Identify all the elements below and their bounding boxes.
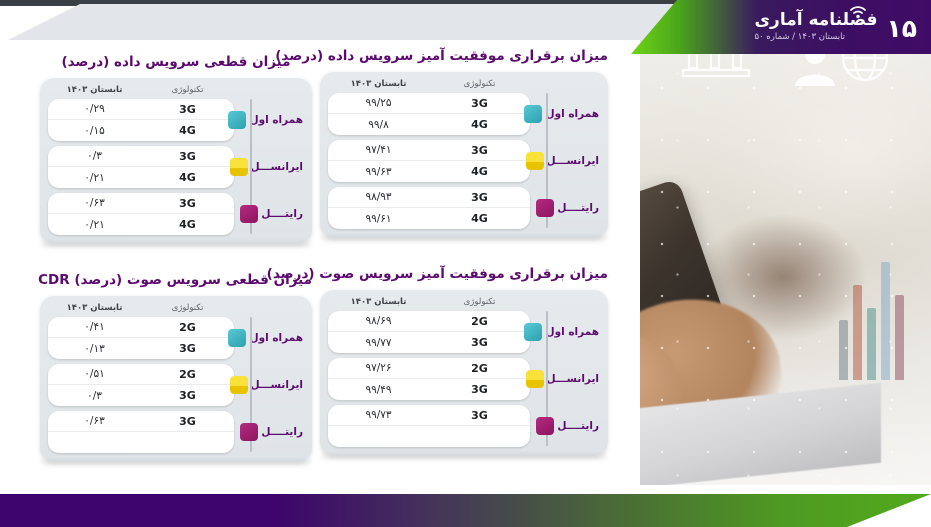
value-cell: ۰/۶۳ xyxy=(48,415,141,427)
top-grey-panel xyxy=(0,4,700,44)
column-header-period: تابستان ۱۴۰۳ xyxy=(328,297,429,307)
operator-label-cell: ایرانســـل xyxy=(530,152,600,170)
operator-label-cell: همراه اول xyxy=(530,105,600,123)
value-cell: ۰/۱۳ xyxy=(48,343,141,355)
rows-box: 3G ۹۷/۴۱ 4G ۹۹/۶۳ xyxy=(328,140,530,182)
technology-cell: 3G xyxy=(429,97,530,110)
operator-group: همراه اول 2G ۹۸/۶۹ 3G ۹۹/۷۷ xyxy=(328,311,600,353)
rows-box: 3G ۰/۲۹ 4G ۰/۱۵ xyxy=(48,99,234,141)
cards-container: میزان برقراری موفقیت آمیز سرویس داده (در… xyxy=(8,48,608,477)
rows-box: 3G ۰/۶۳ xyxy=(48,411,234,453)
technology-cell: 2G xyxy=(429,362,530,375)
operator-name: همراه اول xyxy=(249,332,303,344)
card-title: میزان برقراری موفقیت آمیز سرویس صوت (درص… xyxy=(320,266,608,282)
column-header-technology: تکنولوژی xyxy=(429,79,530,89)
bottom-gap xyxy=(0,485,931,494)
technology-cell: 2G xyxy=(429,315,530,328)
table-row: 3G ۹۸/۹۳ xyxy=(328,187,530,208)
column-header-technology: تکنولوژی xyxy=(141,303,234,313)
table-row: 3G ۰/۶۳ xyxy=(48,193,234,214)
irancell-logo xyxy=(526,152,544,170)
value-cell: ۹۹/۴۹ xyxy=(328,384,429,396)
value-cell: ۰/۱۵ xyxy=(48,125,141,137)
card-title: میزان برقراری موفقیت آمیز سرویس داده (در… xyxy=(320,48,608,64)
operator-group: ایرانســـل 2G ۹۷/۲۶ 3G ۹۹/۴۹ xyxy=(328,358,600,400)
infographic-page: ۱۵ فصلنامه آماری تابستان ۱۴۰۳ / شماره ۵۰… xyxy=(0,0,931,527)
technology-cell: 4G xyxy=(141,124,234,137)
operator-group: ایرانســـل 3G ۰/۳ 4G ۰/۲۱ xyxy=(48,146,304,188)
rightel-logo xyxy=(240,423,258,441)
rows-box: 2G ۹۸/۶۹ 3G ۹۹/۷۷ xyxy=(328,311,530,353)
rows-box: 3G ۹۹/۲۵ 4G ۹۹/۸ xyxy=(328,93,530,135)
card-body: تکنولوژی تابستان ۱۴۰۳ همراه اول 2G ۹۸/۶۹ xyxy=(320,289,608,456)
table-row: 3G ۰/۳ xyxy=(48,146,234,167)
table-row: 3G ۹۹/۴۹ xyxy=(328,379,530,400)
issue-number: ۱۵ xyxy=(886,16,917,41)
value-cell: ۰/۲۹ xyxy=(48,103,141,115)
operator-name: همراه اول xyxy=(545,326,599,338)
operator-label-cell: همراه اول xyxy=(530,323,600,341)
operator-group: ایرانســـل 3G ۹۷/۴۱ 4G ۹۹/۶۳ xyxy=(328,140,600,182)
operator-group: رایتــــل 3G ۰/۶۳ 4G ۰/۲۱ xyxy=(48,193,304,235)
technology-cell: 3G xyxy=(429,144,530,157)
value-cell: ۰/۳ xyxy=(48,390,141,402)
table-row-empty xyxy=(48,432,234,453)
table-row: 2G ۰/۵۱ xyxy=(48,364,234,385)
value-cell: ۹۹/۸ xyxy=(328,119,429,131)
value-cell: ۹۸/۶۹ xyxy=(328,315,429,327)
table-row: 4G ۰/۱۵ xyxy=(48,120,234,141)
value-cell: ۹۸/۹۳ xyxy=(328,191,429,203)
card-title: میزان قطعی سرویس صوت (درصد) CDR xyxy=(40,272,312,288)
table-row: 2G ۹۸/۶۹ xyxy=(328,311,530,332)
operator-label-cell: رایتــــل xyxy=(234,423,304,441)
table-row: 4G ۹۹/۸ xyxy=(328,114,530,135)
value-cell: ۹۷/۴۱ xyxy=(328,144,429,156)
card-voice-outage: میزان قطعی سرویس صوت (درصد) CDR تکنولوژی… xyxy=(40,272,312,462)
operator-label-cell: همراه اول xyxy=(234,111,304,129)
operator-group: ایرانســـل 2G ۰/۵۱ 3G ۰/۳ xyxy=(48,364,304,406)
table-row: 2G ۹۷/۲۶ xyxy=(328,358,530,379)
table-row: 3G ۰/۲۹ xyxy=(48,99,234,120)
operator-group: همراه اول 3G ۹۹/۲۵ 4G ۹۹/۸ xyxy=(328,93,600,135)
table-row: 3G ۹۹/۷۳ xyxy=(328,405,530,426)
irancell-logo xyxy=(526,370,544,388)
table-row: 3G ۹۹/۲۵ xyxy=(328,93,530,114)
operator-label-cell: ایرانســـل xyxy=(530,370,600,388)
footer-bar xyxy=(0,494,931,527)
column-headers: تکنولوژی تابستان ۱۴۰۳ xyxy=(48,84,304,99)
irancell-logo xyxy=(230,376,248,394)
mci-logo xyxy=(228,329,246,347)
operator-name: رایتــــل xyxy=(557,420,599,432)
mci-logo xyxy=(524,105,542,123)
technology-cell: 4G xyxy=(429,165,530,178)
operator-label-cell: رایتــــل xyxy=(530,417,600,435)
operator-name: همراه اول xyxy=(249,114,303,126)
table-row: 3G ۹۷/۴۱ xyxy=(328,140,530,161)
operator-name: رایتــــل xyxy=(557,202,599,214)
mci-logo xyxy=(524,323,542,341)
value-cell: ۹۹/۷۷ xyxy=(328,337,429,349)
column-header-technology: تکنولوژی xyxy=(141,85,234,95)
magazine-subtitle: تابستان ۱۴۰۳ / شماره ۵۰ xyxy=(754,32,845,43)
column-header-technology: تکنولوژی xyxy=(429,297,530,307)
table-row: 4G ۹۹/۶۳ xyxy=(328,161,530,182)
technology-cell: 4G xyxy=(429,118,530,131)
column-header-period: تابستان ۱۴۰۳ xyxy=(48,85,141,95)
technology-cell: 3G xyxy=(141,197,234,210)
rows-box: 3G ۰/۶۳ 4G ۰/۲۱ xyxy=(48,193,234,235)
value-cell: ۹۹/۶۱ xyxy=(328,213,429,225)
technology-cell: 3G xyxy=(141,389,234,402)
column-headers: تکنولوژی تابستان ۱۴۰۳ xyxy=(328,296,600,311)
table-row: 4G ۰/۲۱ xyxy=(48,167,234,188)
table-row: 3G ۹۹/۷۷ xyxy=(328,332,530,353)
technology-cell: 3G xyxy=(429,383,530,396)
mci-logo xyxy=(228,111,246,129)
operator-group: رایتــــل 3G ۰/۶۳ xyxy=(48,411,304,453)
value-cell: ۰/۵۱ xyxy=(48,368,141,380)
operator-name: ایرانســـل xyxy=(547,373,599,385)
column-header-period: تابستان ۱۴۰۳ xyxy=(328,79,429,89)
rows-box: 2G ۰/۵۱ 3G ۰/۳ xyxy=(48,364,234,406)
header-banner-content: ۱۵ فصلنامه آماری تابستان ۱۴۰۳ / شماره ۵۰ xyxy=(631,0,931,54)
table-row: 2G ۰/۴۱ xyxy=(48,317,234,338)
value-cell: ۹۷/۲۶ xyxy=(328,362,429,374)
operator-label-cell: رایتــــل xyxy=(530,199,600,217)
operator-name: ایرانســـل xyxy=(251,379,303,391)
technology-cell: 4G xyxy=(429,212,530,225)
card-title: میزان قطعی سرویس داده (درصد) xyxy=(40,54,312,70)
card-body: تکنولوژی تابستان ۱۴۰۳ همراه اول 3G ۹۹/۲۵ xyxy=(320,71,608,238)
technology-cell: 3G xyxy=(141,103,234,116)
technology-cell: 3G xyxy=(429,409,530,422)
operator-label-cell: ایرانســـل xyxy=(234,376,304,394)
technology-cell: 3G xyxy=(429,191,530,204)
operator-group: همراه اول 2G ۰/۴۱ 3G ۰/۱۳ xyxy=(48,317,304,359)
table-row: 3G ۰/۳ xyxy=(48,385,234,406)
rows-box: 2G ۹۷/۲۶ 3G ۹۹/۴۹ xyxy=(328,358,530,400)
card-body: تکنولوژی تابستان ۱۴۰۳ همراه اول 2G ۰/۴۱ xyxy=(40,295,312,462)
technology-cell: 2G xyxy=(141,321,234,334)
operator-name: رایتــــل xyxy=(261,208,303,220)
table-row-empty xyxy=(328,426,530,447)
column-header-period: تابستان ۱۴۰۳ xyxy=(48,303,141,313)
rightel-logo xyxy=(536,199,554,217)
card-voice-success: میزان برقراری موفقیت آمیز سرویس صوت (درص… xyxy=(320,266,608,456)
operator-name: رایتــــل xyxy=(261,426,303,438)
irancell-logo xyxy=(230,158,248,176)
rows-box: 3G ۹۸/۹۳ 4G ۹۹/۶۱ xyxy=(328,187,530,229)
technology-cell: 4G xyxy=(141,171,234,184)
table-row: 4G ۹۹/۶۱ xyxy=(328,208,530,229)
rows-box: 3G ۹۹/۷۳ xyxy=(328,405,530,447)
technology-cell: 3G xyxy=(141,150,234,163)
operator-group: رایتــــل 3G ۹۸/۹۳ 4G ۹۹/۶۱ xyxy=(328,187,600,229)
value-cell: ۹۹/۶۳ xyxy=(328,166,429,178)
operator-name: همراه اول xyxy=(545,108,599,120)
technology-cell: 3G xyxy=(141,342,234,355)
operator-label-cell: همراه اول xyxy=(234,329,304,347)
rightel-logo xyxy=(240,205,258,223)
table-row: 3G ۰/۱۳ xyxy=(48,338,234,359)
card-data-success: میزان برقراری موفقیت آمیز سرویس داده (در… xyxy=(320,48,608,238)
value-cell: ۰/۶۳ xyxy=(48,197,141,209)
technology-cell: 4G xyxy=(141,218,234,231)
operator-group: رایتــــل 3G ۹۹/۷۳ xyxy=(328,405,600,447)
technology-cell: 3G xyxy=(429,336,530,349)
value-cell: ۹۹/۷۳ xyxy=(328,409,429,421)
rows-box: 2G ۰/۴۱ 3G ۰/۱۳ xyxy=(48,317,234,359)
card-body: تکنولوژی تابستان ۱۴۰۳ همراه اول 3G ۰/۲۹ xyxy=(40,77,312,244)
card-data-outage: میزان قطعی سرویس داده (درصد) تکنولوژی تا… xyxy=(40,54,312,244)
column-headers: تکنولوژی تابستان ۱۴۰۳ xyxy=(48,302,304,317)
value-cell: ۹۹/۲۵ xyxy=(328,97,429,109)
rightel-logo xyxy=(536,417,554,435)
rows-box: 3G ۰/۳ 4G ۰/۲۱ xyxy=(48,146,234,188)
table-row: 3G ۰/۶۳ xyxy=(48,411,234,432)
operator-name: ایرانســـل xyxy=(251,161,303,173)
value-cell: ۰/۲۱ xyxy=(48,172,141,184)
table-row: 4G ۰/۲۱ xyxy=(48,214,234,235)
wifi-icon xyxy=(849,5,867,19)
value-cell: ۰/۴۱ xyxy=(48,321,141,333)
technology-cell: 3G xyxy=(141,415,234,428)
column-headers: تکنولوژی تابستان ۱۴۰۳ xyxy=(328,78,600,93)
value-cell: ۰/۳ xyxy=(48,150,141,162)
technology-cell: 2G xyxy=(141,368,234,381)
value-cell: ۰/۲۱ xyxy=(48,219,141,231)
operator-group: همراه اول 3G ۰/۲۹ 4G ۰/۱۵ xyxy=(48,99,304,141)
operator-name: ایرانســـل xyxy=(547,155,599,167)
operator-label-cell: ایرانســـل xyxy=(234,158,304,176)
operator-label-cell: رایتــــل xyxy=(234,205,304,223)
